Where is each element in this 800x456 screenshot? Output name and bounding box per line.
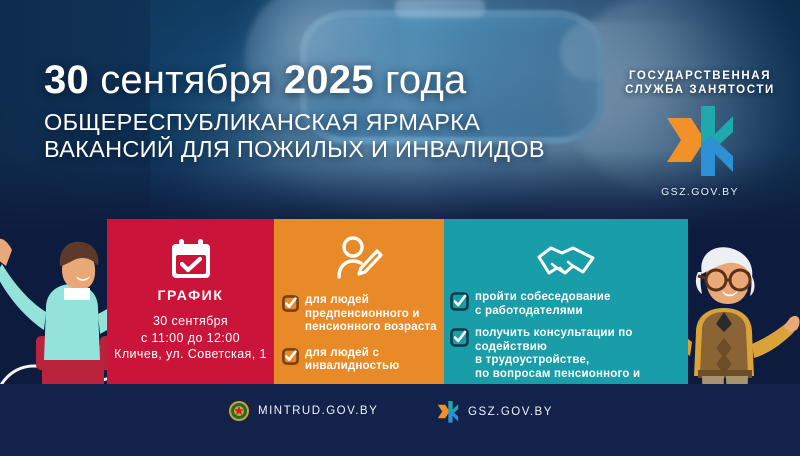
handshake-icon <box>535 241 597 281</box>
list-line: содействию <box>475 341 646 355</box>
list-line: пройти собеседование <box>475 291 611 305</box>
schedule-details: 30 сентября с 11:00 до 12:00 Кличев, ул.… <box>107 313 274 363</box>
list-item-text: пройти собеседование с работодателями <box>475 291 611 318</box>
event-date-line: 30 сентября 2025 года <box>44 58 624 102</box>
panel-schedule: ГРАФИК 30 сентября с 11:00 до 12:00 Клич… <box>107 219 274 384</box>
schedule-address: Кличев, ул. Советская, 1 <box>107 346 274 363</box>
headline-block: 30 сентября 2025 года ОБЩЕРЕСПУБЛИКАНСКА… <box>44 58 624 163</box>
poster-footer: MINTRUD.GOV.BY GSZ.GOV.BY <box>0 384 800 456</box>
date-day: 30 <box>44 58 89 102</box>
list-line: инвалидностью <box>305 360 399 374</box>
calendar-check-icon <box>169 239 213 281</box>
services-list: пройти собеседование с работодателями по… <box>450 291 688 395</box>
poster-canvas: 30 сентября 2025 года ОБЩЕРЕСПУБЛИКАНСКА… <box>0 0 800 456</box>
checkbox-checked-icon <box>450 328 469 347</box>
date-year: 2025 <box>284 58 374 102</box>
list-line: по вопросам пенсионного и <box>475 368 646 382</box>
schedule-time: с 11:00 до 12:00 <box>107 330 274 347</box>
list-line: для людей <box>305 294 437 308</box>
brand-url: GSZ.GOV.BY <box>612 186 788 198</box>
date-suffix: года <box>385 58 466 102</box>
schedule-title: ГРАФИК <box>107 287 274 303</box>
audience-list: для людей предпенсионного и пенсионного … <box>282 294 444 374</box>
panel-audience: для людей предпенсионного и пенсионного … <box>274 219 444 384</box>
list-item: пройти собеседование с работодателями <box>450 291 688 318</box>
info-panels: ГРАФИК 30 сентября с 11:00 до 12:00 Клич… <box>0 219 800 384</box>
panel-services: пройти собеседование с работодателями по… <box>444 219 688 384</box>
list-line: пенсионного возраста <box>305 321 437 335</box>
brand-line-1: ГОСУДАРСТВЕННАЯ <box>612 70 788 82</box>
list-line: предпенсионного и <box>305 308 437 322</box>
list-line: с работодателями <box>475 305 611 319</box>
mintrud-emblem-icon <box>228 400 250 422</box>
person-edit-icon <box>334 236 384 280</box>
subtitle-line-2: ВАКАНСИЙ ДЛЯ ПОЖИЛЫХ И ИНВАЛИДОВ <box>44 136 624 163</box>
schedule-date: 30 сентября <box>107 313 274 330</box>
list-line: получить консультации по <box>475 327 646 341</box>
list-line: в трудоустройстве, <box>475 354 646 368</box>
list-item: для людей предпенсионного и пенсионного … <box>282 294 444 335</box>
checkbox-checked-icon <box>282 348 299 365</box>
list-line: для людей с <box>305 347 399 361</box>
list-item: для людей с инвалидностью <box>282 347 444 374</box>
footer-label: GSZ.GOV.BY <box>468 406 553 418</box>
gsz-starburst-icon <box>436 400 460 423</box>
gsz-starburst-icon <box>661 104 739 176</box>
footer-label: MINTRUD.GOV.BY <box>258 405 378 417</box>
checkbox-checked-icon <box>450 292 469 311</box>
subtitle-line-1: ОБЩЕРЕСПУБЛИКАНСКАЯ ЯРМАРКА <box>44 109 624 136</box>
footer-item-mintrud[interactable]: MINTRUD.GOV.BY <box>228 400 378 422</box>
event-subtitle: ОБЩЕРЕСПУБЛИКАНСКАЯ ЯРМАРКА ВАКАНСИЙ ДЛЯ… <box>44 109 624 163</box>
brand-line-2: СЛУЖБА ЗАНЯТОСТИ <box>612 84 788 96</box>
footer-item-gsz[interactable]: GSZ.GOV.BY <box>436 400 553 423</box>
list-item-text: для людей предпенсионного и пенсионного … <box>305 294 437 335</box>
date-month: сентября <box>100 58 272 102</box>
list-item-text: для людей с инвалидностью <box>305 347 399 374</box>
checkbox-checked-icon <box>282 295 299 312</box>
gsz-brand-block: ГОСУДАРСТВЕННАЯ СЛУЖБА ЗАНЯТОСТИ GSZ.GOV… <box>612 70 788 198</box>
